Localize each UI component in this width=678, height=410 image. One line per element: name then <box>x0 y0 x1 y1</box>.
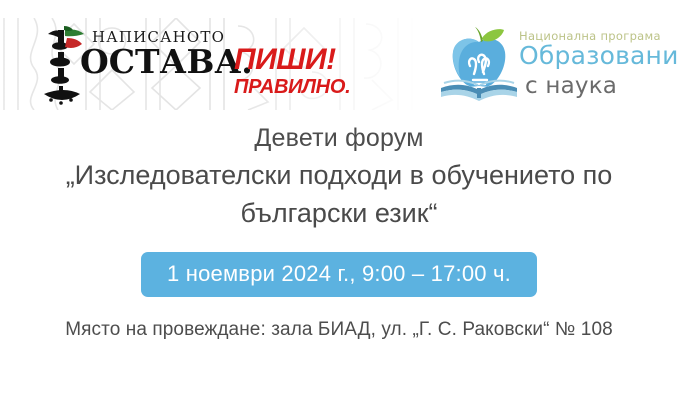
logo-line-ostava: ОСТАВА. <box>80 45 253 78</box>
event-venue: Място на провеждане: зала БИАД, ул. „Г. … <box>0 319 678 341</box>
logo-line-pravilno: ПРАВИЛНО. <box>234 77 350 97</box>
header-banner: НАПИСАНОТО ОСТАВА. ПИШИ! ПРАВИЛНО. <box>0 18 678 110</box>
forum-title-line-2: български език“ <box>0 194 678 232</box>
logo-obrazovanie-s-nauka: Национална програма Образование с наука <box>437 20 672 110</box>
date-badge-container: 1 ноември 2024 г., 9:00 – 17:00 ч. <box>0 252 678 297</box>
logo-napisanoto-ostava: НАПИСАНОТО ОСТАВА. ПИШИ! ПРАВИЛНО. <box>38 22 338 108</box>
logo-line-pishi: ПИШИ! <box>234 45 336 75</box>
program-label-s-nauka: с наука <box>525 75 617 98</box>
apple-over-open-book-icon <box>437 26 521 104</box>
forum-title-line-1: „Изследователски подходи в обучението по <box>0 156 678 194</box>
event-date-badge: 1 ноември 2024 г., 9:00 – 17:00 ч. <box>141 252 537 297</box>
program-label-obrazovanie: Образование <box>519 43 678 68</box>
event-announcement: Девети форум „Изследователски подходи в … <box>0 120 678 360</box>
forum-ordinal: Девети форум <box>0 120 678 156</box>
